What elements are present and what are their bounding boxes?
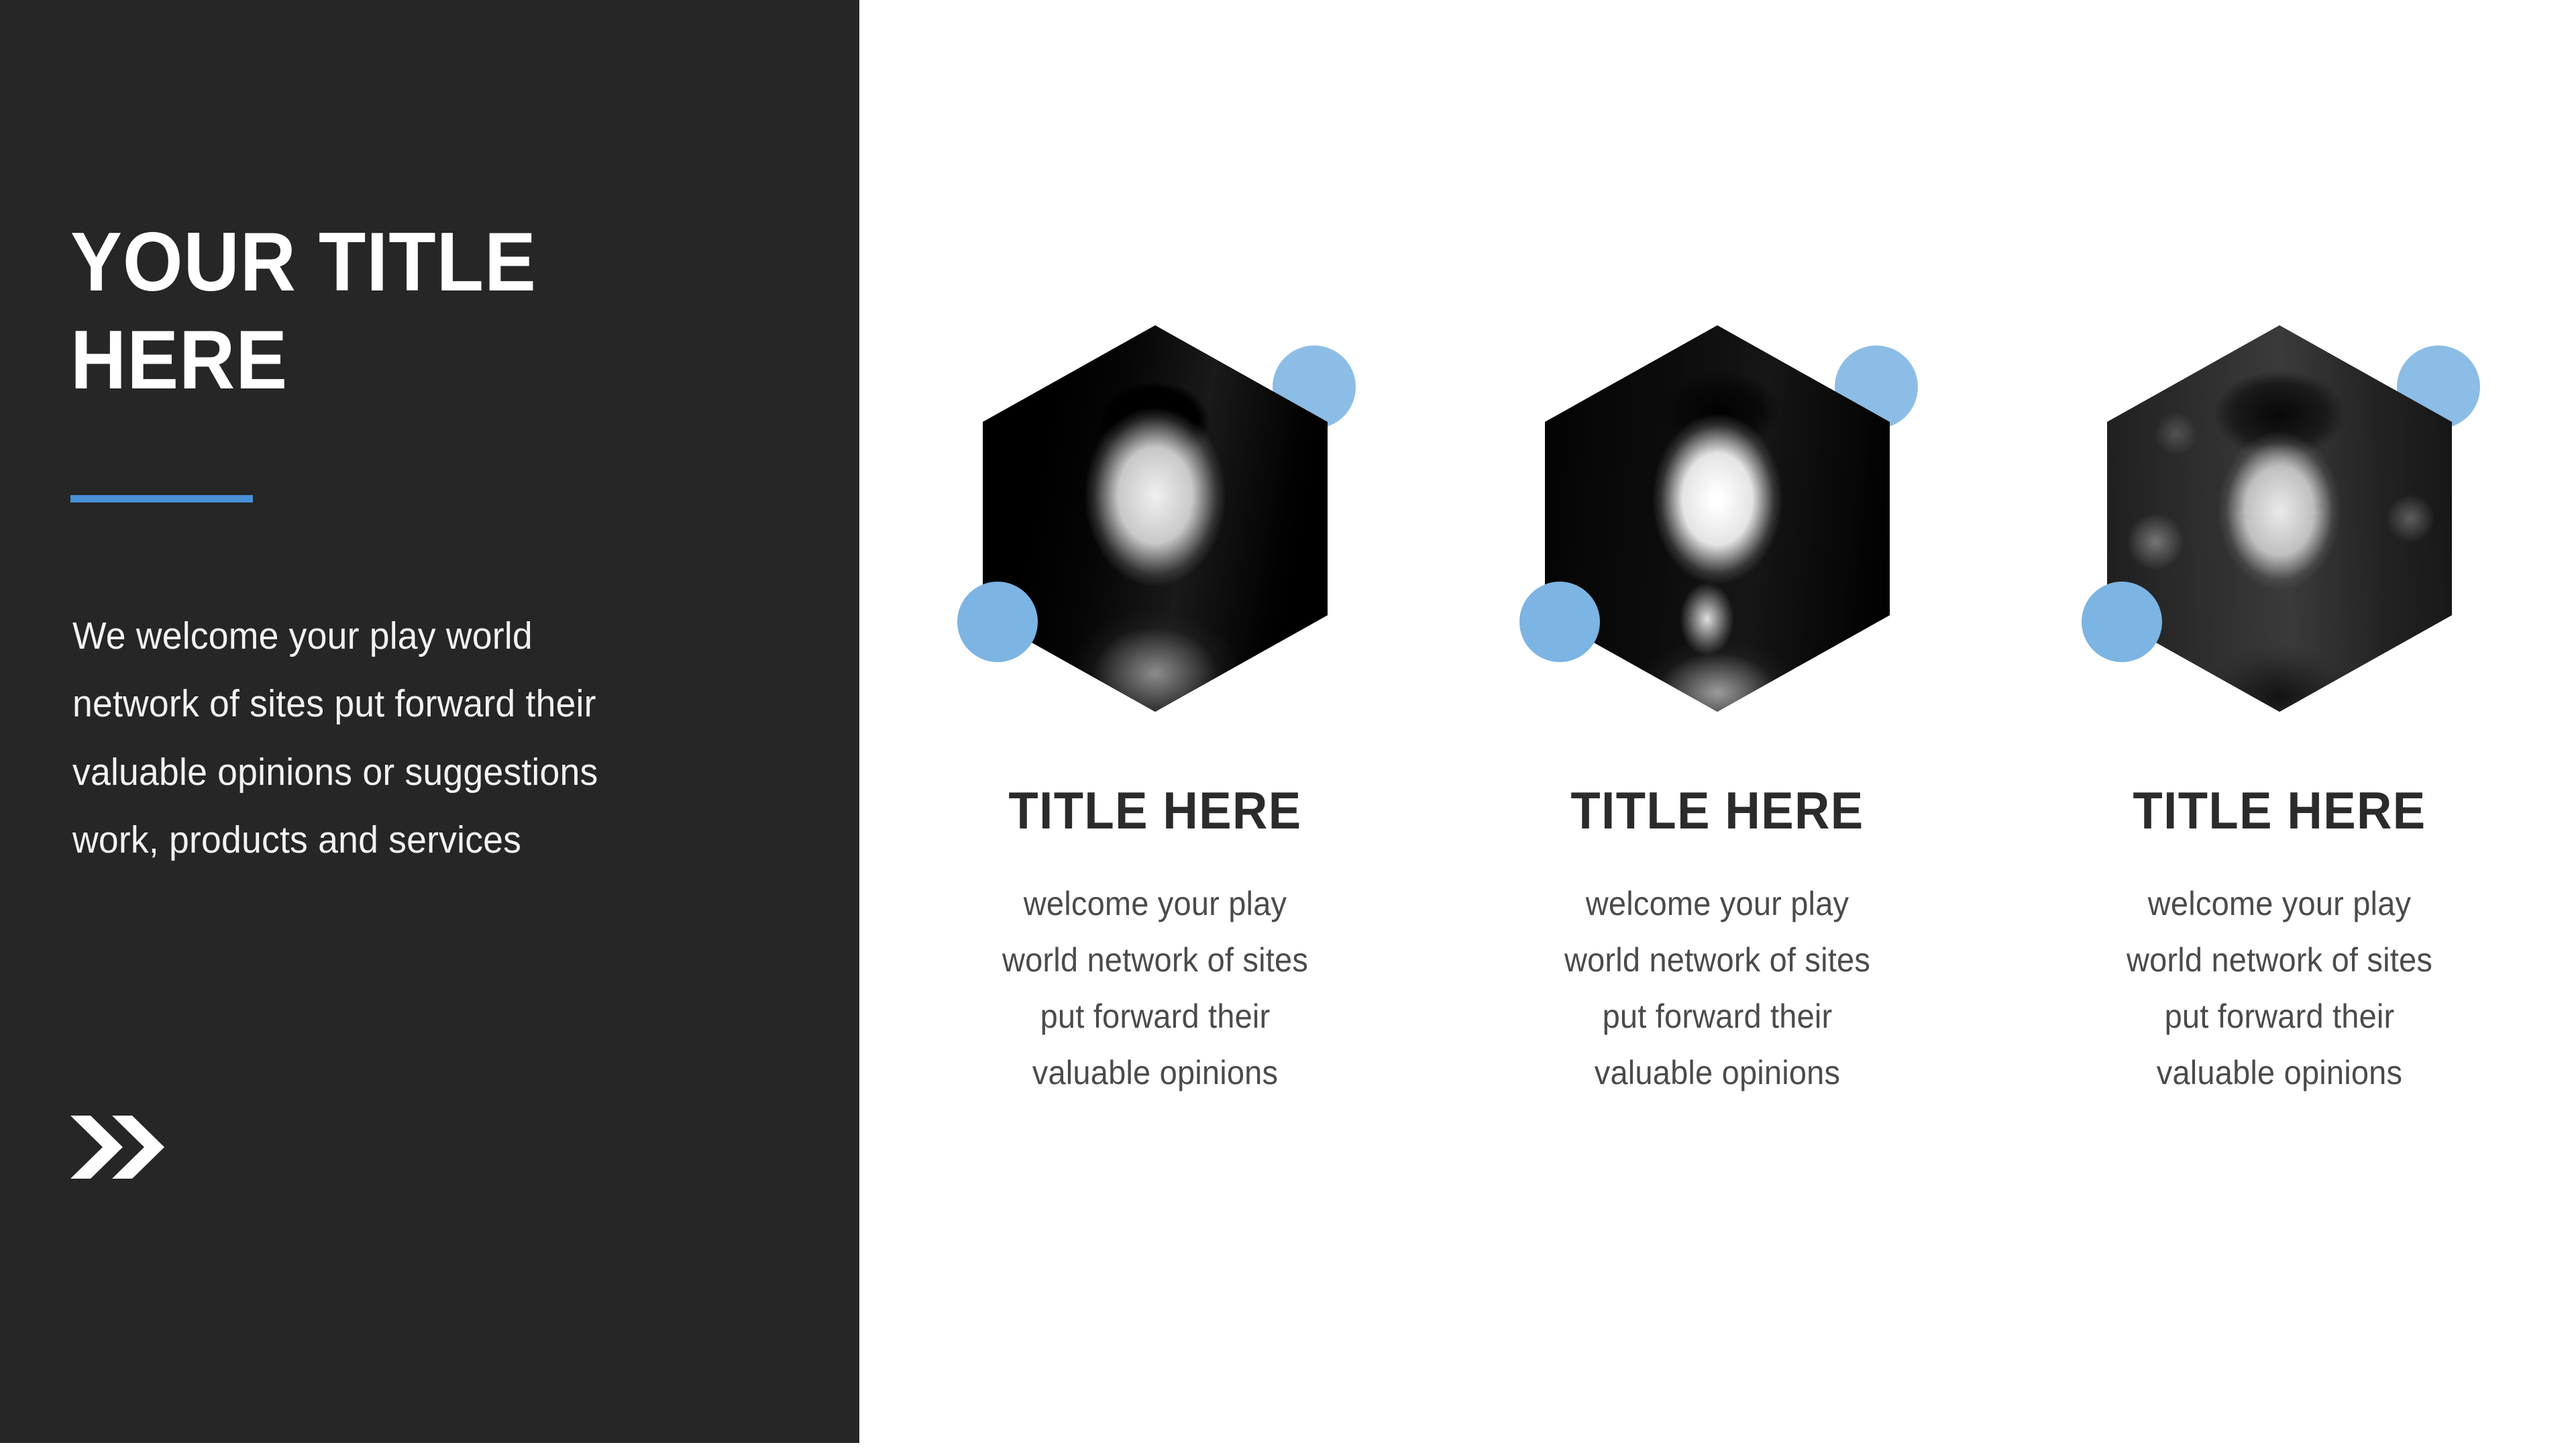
card-title: TITLE HERE xyxy=(937,780,1374,841)
left-dark-panel: YOUR TITLE HERE We welcome your play wor… xyxy=(0,0,859,1443)
hexagon-photo-frame xyxy=(1545,325,1890,712)
title-underline-rule xyxy=(70,495,253,502)
blue-circle-accent-bottom-left xyxy=(957,582,1038,662)
slide-title: YOUR TITLE HERE xyxy=(70,213,726,410)
blue-circle-accent-bottom-left xyxy=(1519,582,1600,662)
hexagon-photo-frame xyxy=(983,325,1328,712)
card-body-text: welcome your play world network of sites… xyxy=(2059,875,2500,1101)
card-body-text: welcome your play world network of sites… xyxy=(1497,875,1938,1101)
intro-paragraph: We welcome your play world network of si… xyxy=(72,602,703,875)
presentation-slide: YOUR TITLE HERE We welcome your play wor… xyxy=(0,0,2576,1449)
profile-cards-region: TITLE HERE welcome your play world netwo… xyxy=(859,0,2576,1449)
card-title: TITLE HERE xyxy=(1499,780,1936,841)
hexagon-photo-frame xyxy=(2107,325,2452,712)
blue-circle-accent-bottom-left xyxy=(2082,582,2162,662)
card-title: TITLE HERE xyxy=(2061,780,2498,841)
double-chevron-right-icon[interactable] xyxy=(70,1110,171,1184)
profile-card[interactable]: TITLE HERE welcome your play world netwo… xyxy=(2045,0,2514,1449)
card-body-text: welcome your play world network of sites… xyxy=(934,875,1376,1101)
profile-card[interactable]: TITLE HERE welcome your play world netwo… xyxy=(920,0,1390,1449)
profile-card[interactable]: TITLE HERE welcome your play world netwo… xyxy=(1483,0,1952,1449)
